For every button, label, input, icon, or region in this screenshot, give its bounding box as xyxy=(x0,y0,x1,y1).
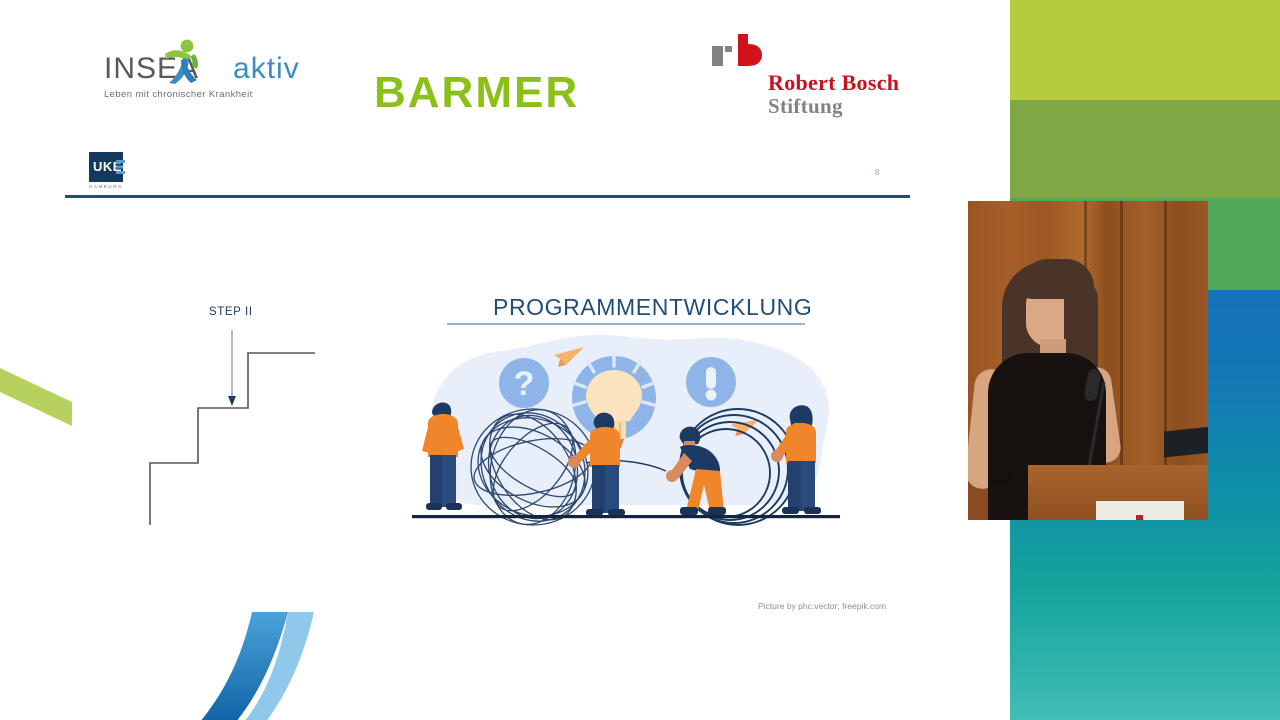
insea-tagline: Leben mit chronischer Krankheit xyxy=(104,89,284,100)
ground-line xyxy=(412,515,840,518)
svg-text:?: ? xyxy=(514,365,535,403)
insea-word-accent: aktiv xyxy=(233,52,300,85)
speaker-watch xyxy=(990,471,1012,484)
insea-aktiv-logo: INSEAaktiv Leben mit chronischer Krankhe… xyxy=(104,52,284,114)
page-number: 8 xyxy=(875,168,879,177)
presentation-screenshot: INSEAaktiv Leben mit chronischer Krankhe… xyxy=(0,0,1280,720)
exclamation-mark-icon xyxy=(686,357,736,407)
lectern-paper-mark xyxy=(1136,515,1143,520)
green-wedge-decoration xyxy=(0,362,72,426)
sponsor-logo-row: INSEAaktiv Leben mit chronischer Krankhe… xyxy=(0,0,1010,150)
wall-seam xyxy=(1120,201,1123,471)
insea-figure-icon xyxy=(161,38,201,84)
slide-area: INSEAaktiv Leben mit chronischer Krankhe… xyxy=(0,0,1010,720)
uke-box: UKE xyxy=(89,152,123,182)
staircase-diagram xyxy=(140,330,330,530)
uke-subtext: HAMBURG xyxy=(89,184,131,189)
question-mark-icon: ? xyxy=(499,358,549,408)
page-title: PROGRAMMENTWICKLUNG xyxy=(493,294,812,321)
speaker-video-overlay[interactable] xyxy=(968,201,1208,520)
band-olive-green xyxy=(1010,100,1280,198)
step-label: STEP II xyxy=(209,306,253,318)
band-yellow-green xyxy=(1010,0,1280,100)
teamwork-untangling-illustration: ? xyxy=(408,335,848,540)
image-credit: Picture by phc.vector; freepik.com xyxy=(758,601,886,611)
robert-bosch-stiftung-logo: Robert Bosch Stiftung xyxy=(712,34,932,124)
blue-swoosh-decoration xyxy=(196,612,336,720)
uke-hamburg-logo: UKE HAMBURG xyxy=(89,152,131,192)
bosch-line-2: Stiftung xyxy=(768,94,843,119)
bosch-line-1: Robert Bosch xyxy=(768,70,899,96)
uke-e-glyph-icon xyxy=(116,160,125,174)
bosch-mark-icon xyxy=(712,34,766,74)
monitor-screen xyxy=(1164,426,1208,457)
header-divider xyxy=(65,195,910,198)
title-underline xyxy=(447,323,805,325)
barmer-logo: BARMER xyxy=(374,68,579,118)
